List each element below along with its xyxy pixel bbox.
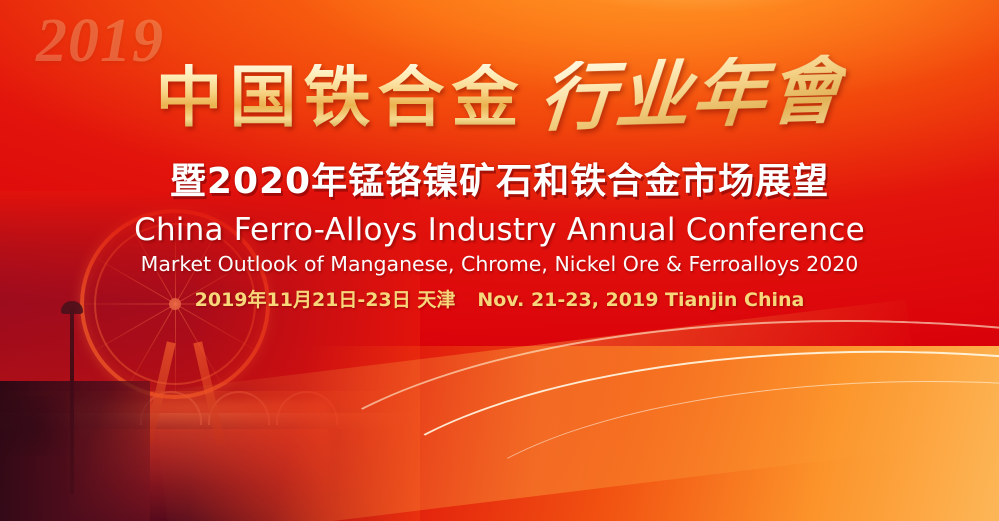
subtitle-chinese: 暨2020年锰铬镍矿石和铁合金市场展望 xyxy=(0,152,999,204)
event-date-chinese: 2019年11月21日-23日 天津 xyxy=(195,289,456,311)
main-title-calligraphy: 行业年會 xyxy=(536,54,847,136)
conference-banner: 2019 中国铁合金行业年會 暨2020年锰铬镍矿石和铁合金市场展望 China… xyxy=(0,0,999,521)
event-date-line: 2019年11月21日-23日 天津Nov. 21-23, 2019 Tianj… xyxy=(0,285,999,312)
main-title: 中国铁合金行业年會 xyxy=(0,58,999,132)
main-title-chinese: 中国铁合金 xyxy=(156,64,526,131)
subtitle-english-primary: China Ferro-Alloys Industry Annual Confe… xyxy=(0,212,999,248)
sponsors-section: 主办单位： (Hosts) ChinMetal Information Tech… xyxy=(0,330,999,521)
subtitle-english-secondary: Market Outlook of Manganese, Chrome, Nic… xyxy=(0,252,999,276)
event-date-english: Nov. 21-23, 2019 Tianjin China xyxy=(477,289,804,311)
